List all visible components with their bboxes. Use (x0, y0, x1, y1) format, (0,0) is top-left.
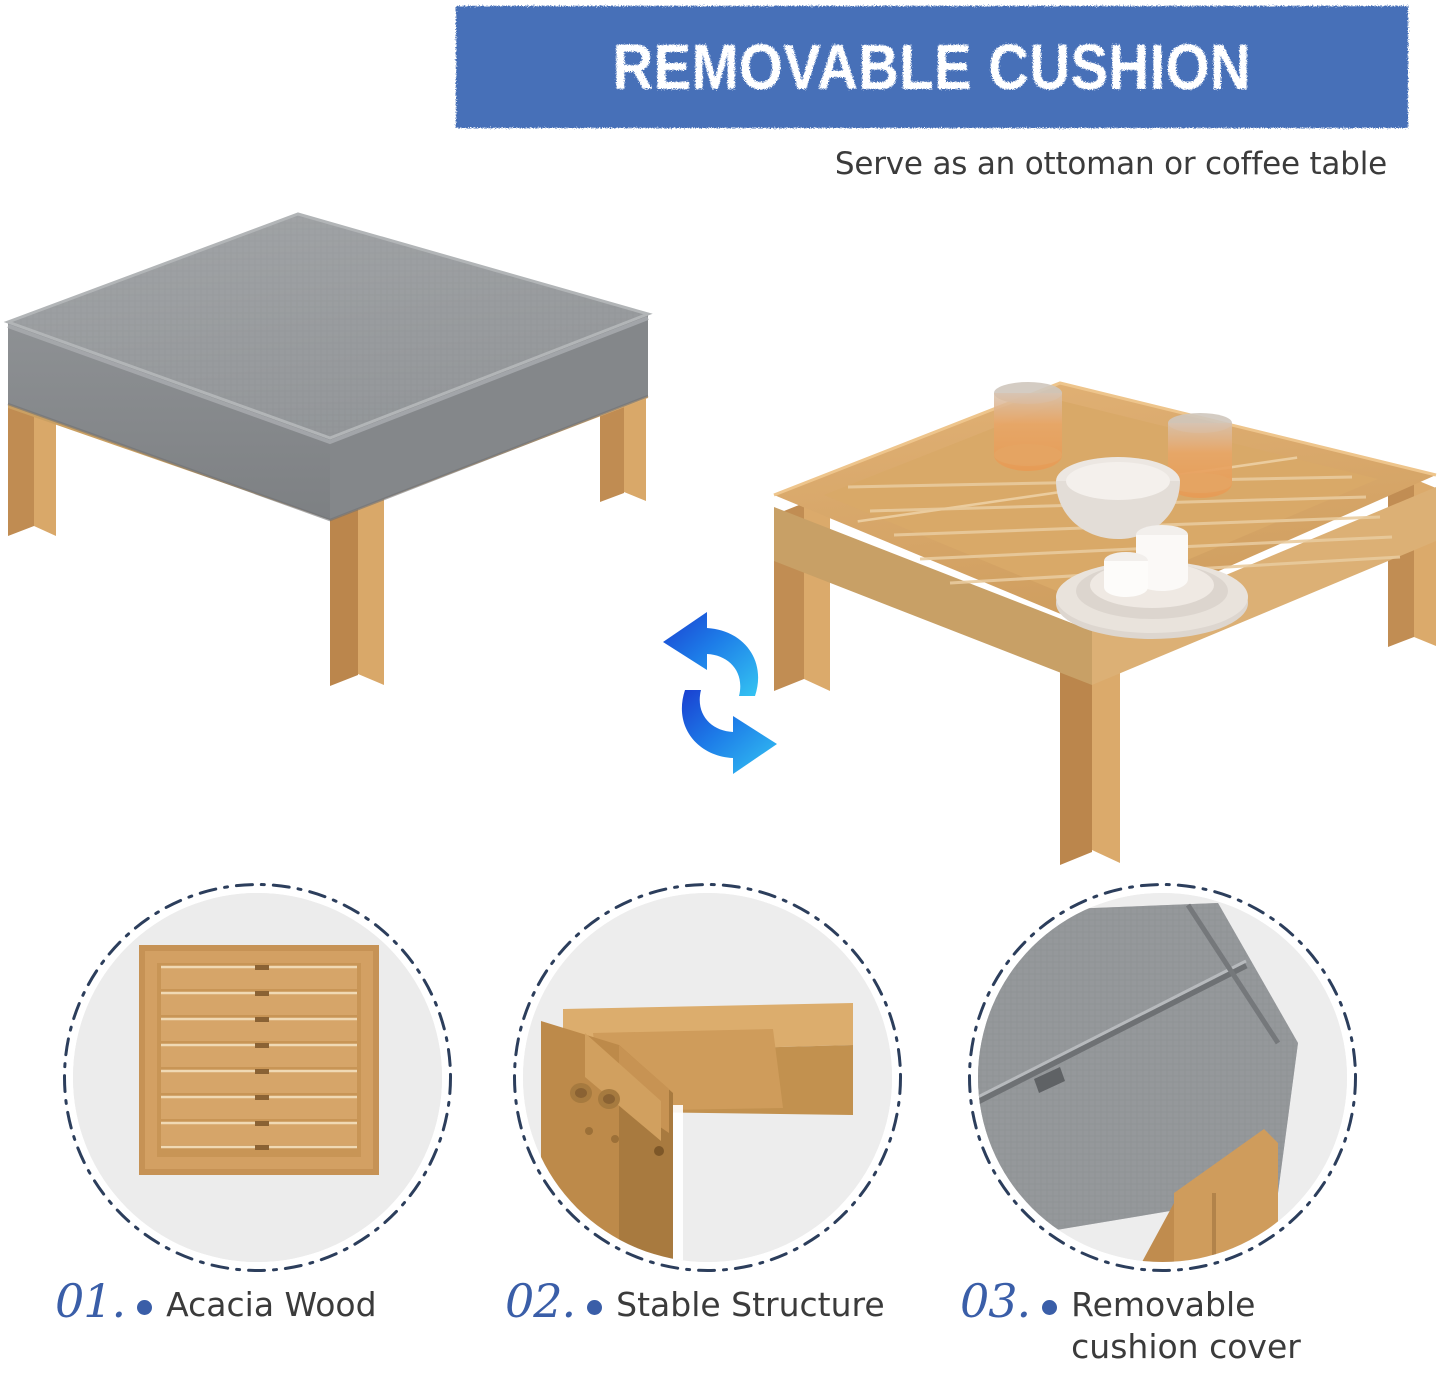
feature-2-caption: 02. Stable Structure (505, 1278, 885, 1326)
bullet-dot-icon (587, 1300, 602, 1315)
feature-3-label: Removable cushion cover (1071, 1278, 1301, 1368)
product-infographic-page: REMOVABLE CUSHION Serve as an ottoman or… (0, 0, 1445, 1387)
feature-2-image (523, 893, 892, 1262)
feature-card-1: 01. Acacia Wood (55, 880, 485, 1275)
feature-2-circle (510, 880, 905, 1275)
feature-3-image (978, 893, 1347, 1262)
bullet-dot-icon (1042, 1300, 1057, 1315)
features-section: 01. Acacia Wood (0, 880, 1445, 1387)
coffee-table-product-image (760, 365, 1445, 865)
hero-section (0, 185, 1445, 860)
feature-1-label: Acacia Wood (166, 1278, 376, 1326)
feature-2-number: 02. (505, 1278, 577, 1324)
header-banner: REMOVABLE CUSHION (456, 6, 1408, 128)
feature-1-number: 01. (55, 1278, 127, 1324)
feature-1-circle (60, 880, 455, 1275)
feature-3-number: 03. (960, 1278, 1032, 1324)
feature-card-3: 03. Removable cushion cover (960, 880, 1390, 1275)
ottoman-product-image (0, 190, 680, 710)
feature-1-image (73, 893, 442, 1262)
feature-3-circle (965, 880, 1360, 1275)
feature-card-2: 02. Stable Structure (505, 880, 935, 1275)
feature-3-caption: 03. Removable cushion cover (960, 1278, 1301, 1368)
feature-1-caption: 01. Acacia Wood (55, 1278, 377, 1326)
bullet-dot-icon (137, 1300, 152, 1315)
subtitle-text: Serve as an ottoman or coffee table (835, 146, 1387, 182)
banner-title: REMOVABLE CUSHION (613, 30, 1251, 104)
feature-2-label: Stable Structure (616, 1278, 885, 1326)
